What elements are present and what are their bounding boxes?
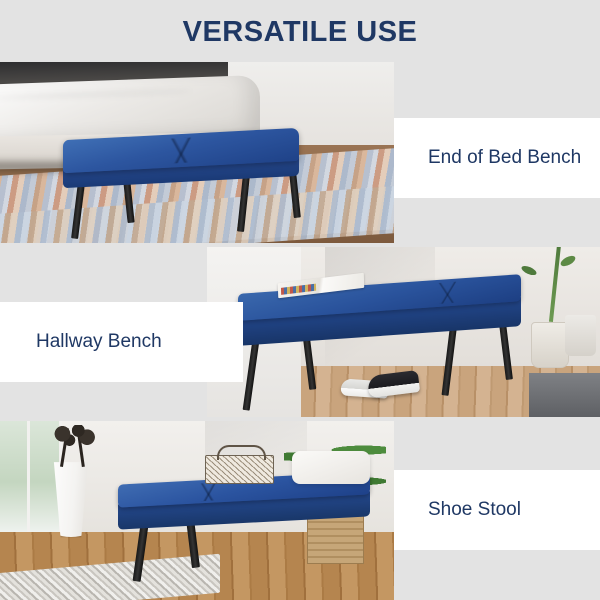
gray-rug xyxy=(529,373,600,417)
caption-end-of-bed-bench: End of Bed Bench xyxy=(394,118,600,198)
woven-bag xyxy=(205,455,274,484)
branch-buds xyxy=(51,425,94,446)
caption-hallway-bench: Hallway Bench xyxy=(0,302,243,382)
woven-basket xyxy=(565,315,596,356)
caption-shoe-stool: Shoe Stool xyxy=(394,470,600,550)
scene-photo-hallway-bench xyxy=(207,247,600,417)
scene-photo-end-of-bed-bench xyxy=(0,62,394,243)
caption-label: End of Bed Bench xyxy=(428,147,581,169)
caption-label: Hallway Bench xyxy=(36,331,162,353)
marketing-image: VERSATILE USE End of Bed Bench xyxy=(0,0,600,600)
page-title: VERSATILE USE xyxy=(0,16,600,49)
throw-pillow xyxy=(292,451,371,483)
scene-photo-shoe-stool xyxy=(0,421,394,600)
plant-pot xyxy=(531,322,568,368)
caption-label: Shoe Stool xyxy=(428,499,521,521)
